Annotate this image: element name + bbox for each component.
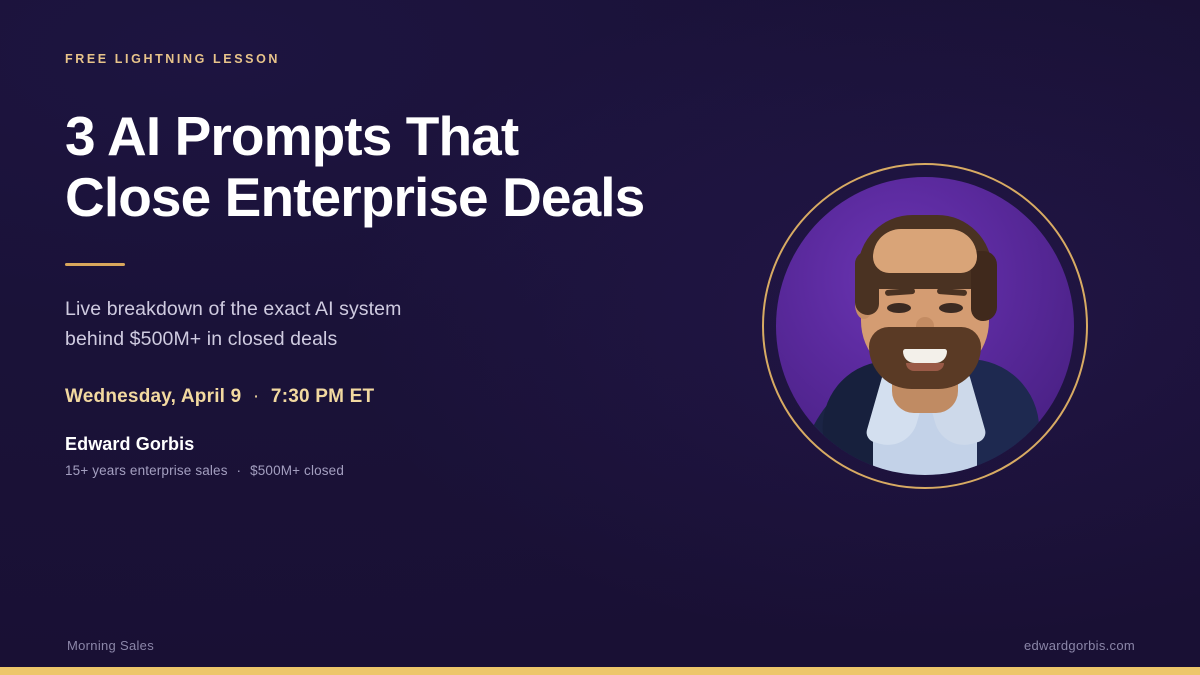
footer-website: edwardgorbis.com <box>1024 638 1135 653</box>
credential-separator: · <box>232 463 247 478</box>
footer-brand: Morning Sales <box>67 638 154 653</box>
datetime-separator: · <box>247 386 266 407</box>
webinar-promo-slide: FREE LIGHTNING LESSON 3 AI Prompts That … <box>0 0 1200 675</box>
gold-divider-rule <box>65 263 125 266</box>
subhead-text: Live breakdown of the exact AI system be… <box>65 294 705 354</box>
subhead-line-1: Live breakdown of the exact AI system <box>65 298 401 320</box>
headline-line-2: Close Enterprise Deals <box>65 167 705 228</box>
portrait-eye-left <box>887 303 911 313</box>
headline-line-1: 3 AI Prompts That <box>65 105 518 167</box>
speaker-name: Edward Gorbis <box>65 434 705 455</box>
portrait-mouth <box>903 349 947 363</box>
bottom-gold-bar <box>0 667 1200 675</box>
portrait-lower-lip <box>906 363 944 371</box>
portrait-forehead <box>873 229 977 273</box>
credential-experience: 15+ years enterprise sales <box>65 463 228 478</box>
credential-revenue: $500M+ closed <box>250 463 344 478</box>
slide-content: FREE LIGHTNING LESSON 3 AI Prompts That … <box>65 52 705 478</box>
subhead-line-2: behind $500M+ in closed deals <box>65 324 705 354</box>
event-date: Wednesday, April 9 <box>65 386 241 407</box>
page-title: 3 AI Prompts That Close Enterprise Deals <box>65 106 705 227</box>
event-datetime: Wednesday, April 9 · 7:30 PM ET <box>65 386 705 408</box>
portrait-photo <box>776 177 1074 475</box>
speaker-portrait <box>762 163 1088 489</box>
event-time: 7:30 PM ET <box>271 386 374 407</box>
speaker-credentials: 15+ years enterprise sales · $500M+ clos… <box>65 463 705 478</box>
portrait-eye-right <box>939 303 963 313</box>
eyebrow-label: FREE LIGHTNING LESSON <box>65 52 705 66</box>
